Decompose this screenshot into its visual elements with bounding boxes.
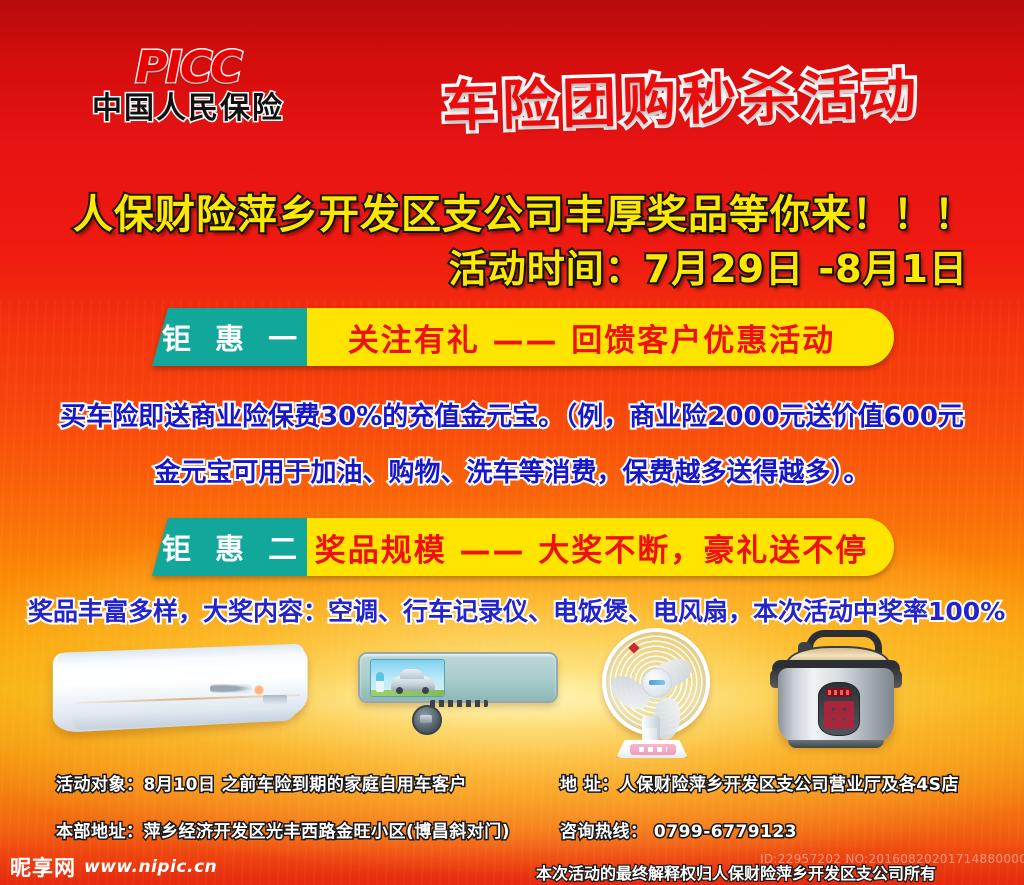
footer-hotline: 咨询热线： 0799-6779123	[560, 817, 797, 842]
dashcam-screen	[370, 659, 445, 697]
section-1-body-line-2: 金元宝可用于加油、购物、洗车等消费，保费越多送得越多）。	[32, 452, 992, 489]
fan-control-panel	[630, 744, 676, 755]
footer-hq-address: 本部地址：萍乡经济开发区光丰西路金旺小区(博昌斜对门)	[56, 817, 510, 842]
footer-venue-address: 地 址：人保财险萍乡开发区支公司营业厅及各4S店	[560, 770, 959, 795]
section-1-body-line-1: 买车险即送商业险保费30%的充值金元宝。（例，商业险2000元送价值600元	[32, 396, 992, 433]
pressure-cooker-image	[770, 630, 902, 754]
section-headline-1: 关注有礼 —— 回馈客户优惠活动	[307, 308, 894, 366]
event-period: 活动时间：7月29日 -8月1日	[449, 238, 968, 293]
fan-guard-badge	[628, 642, 639, 653]
cooker-base	[788, 740, 884, 748]
footer-audience: 活动对象：8月10日 之前车险到期的家庭自用车客户	[56, 770, 467, 795]
picc-brand-text: PICC	[58, 46, 318, 90]
desk-fan-image	[596, 628, 716, 756]
subtitle-company: 人保财险萍乡开发区支公司丰厚奖品等你来！！！	[44, 182, 1004, 240]
prize-product-images	[0, 624, 1024, 774]
ac-brand-mark	[210, 684, 252, 693]
watermark-url: www.nipic.cn	[84, 857, 217, 877]
section-tag-2: 钜 惠 二	[152, 518, 307, 576]
section-2-body-line-1: 奖品丰富多样，大奖内容：空调、行车记录仪、电饭煲、电风扇，本次活动中奖率100%	[28, 592, 1004, 628]
dashcam-buttons	[430, 700, 488, 707]
page-title: 车险团购秒杀活动	[351, 47, 1013, 144]
screen-car	[391, 676, 435, 691]
picc-logo: PICC 中国人民保险	[58, 46, 318, 125]
section-banner-2: 钜 惠 二 奖品规模 —— 大奖不断，豪礼送不停	[152, 518, 894, 576]
legal-disclaimer: 本次活动的最终解释权归人保财险萍乡开发区支公司所有	[536, 860, 936, 884]
ac-led-indicator	[254, 685, 264, 695]
screen-person	[376, 672, 384, 692]
cooker-display	[826, 688, 852, 697]
fan-hub	[642, 668, 672, 698]
dashcam-camera-mount	[412, 705, 442, 735]
air-conditioner-image	[58, 640, 328, 744]
section-tag-1: 钜 惠 一	[152, 308, 307, 366]
mirror-frame	[358, 652, 558, 703]
cooker-control-panel	[818, 682, 860, 736]
ac-display	[263, 695, 287, 704]
dashcam-mirror-image	[358, 652, 554, 742]
site-watermark: 昵享网 www.nipic.cn	[10, 852, 217, 882]
section-headline-2: 奖品规模 —— 大奖不断，豪礼送不停	[307, 518, 894, 576]
cooker-keypad	[824, 701, 854, 729]
poster-canvas: PICC 中国人民保险 车险团购秒杀活动 人保财险萍乡开发区支公司丰厚奖品等你来…	[0, 0, 1024, 885]
picc-chinese-name: 中国人民保险	[58, 92, 318, 125]
watermark-site-name: 昵享网	[10, 852, 76, 882]
section-banner-1: 钜 惠 一 关注有礼 —— 回馈客户优惠活动	[152, 308, 894, 366]
